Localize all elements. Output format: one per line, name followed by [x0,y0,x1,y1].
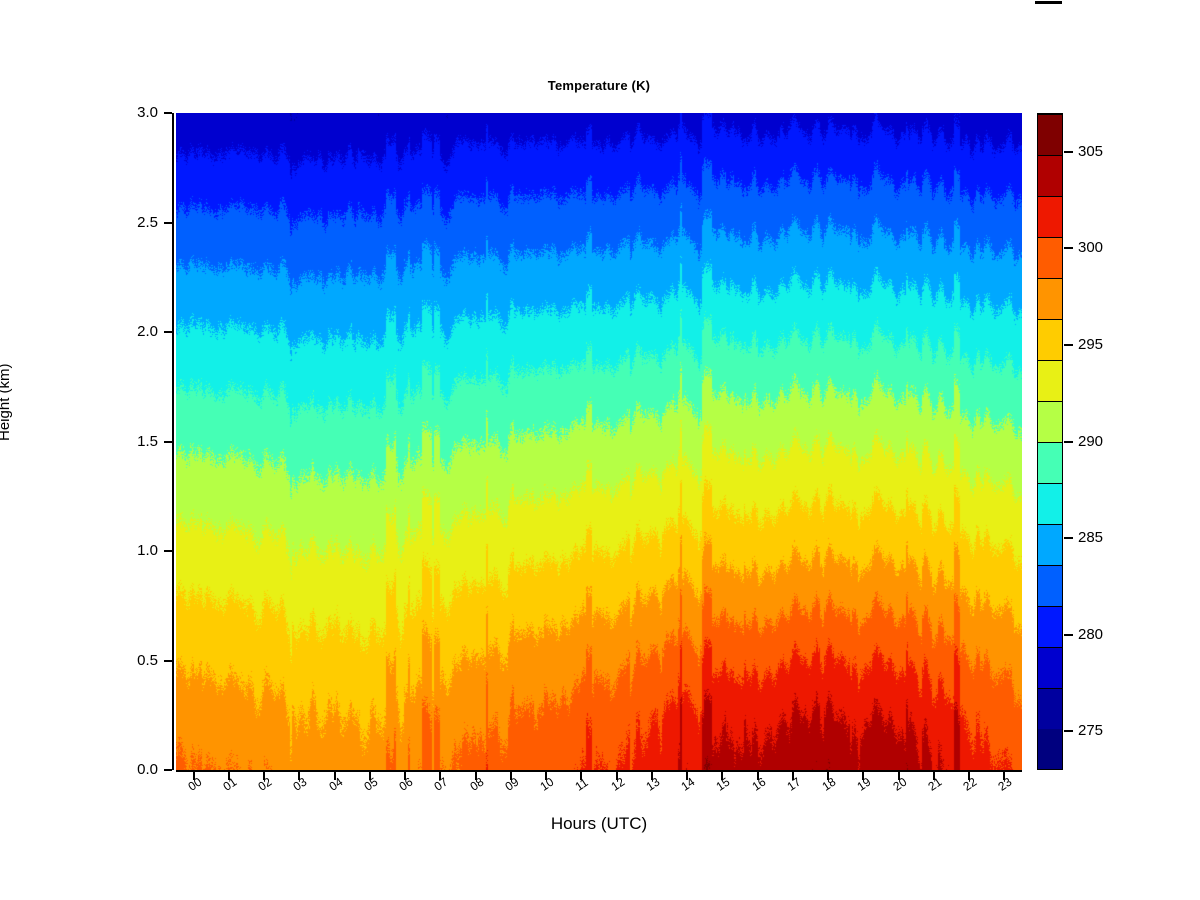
x-tick-label: 10 [538,776,556,793]
y-tick-label: 1.0 [137,543,158,558]
colorbar-tick-mark [1064,344,1073,346]
colorbar-band [1038,442,1062,483]
temperature-heatmap [176,113,1022,770]
x-tick-label: 03 [291,776,309,793]
colorbar-tick-mark [1064,247,1073,249]
x-tick-label: 05 [362,776,380,793]
x-tick-label: 11 [573,776,590,793]
x-axis-line [176,770,1022,772]
y-tick-label: 1.5 [137,434,158,449]
x-tick-label: 08 [468,776,486,793]
y-tick-label: 2.0 [137,324,158,339]
y-tick-mark [164,331,172,333]
y-tick-label: 2.5 [137,215,158,230]
x-tick-label: 00 [186,776,204,793]
y-tick-mark [164,769,172,771]
colorbar-band [1038,155,1062,196]
colorbar-band [1038,401,1062,442]
colorbar-band [1038,606,1062,647]
y-tick-mark [164,660,172,662]
y-tick-mark [164,222,172,224]
colorbar-band [1038,565,1062,606]
colorbar-band [1038,729,1062,769]
colorbar [1037,113,1063,770]
y-tick-mark [164,550,172,552]
colorbar-tick-label: 280 [1078,627,1103,642]
colorbar-band [1038,319,1062,360]
top-edge-artifact [1035,1,1062,4]
x-tick-label: 09 [503,776,521,793]
colorbar-tick-mark [1064,730,1073,732]
x-tick-label: 19 [855,776,873,793]
x-tick-label: 21 [926,776,944,793]
x-tick-label: 04 [327,776,345,793]
y-tick-label: 3.0 [137,105,158,120]
y-tick-mark [164,441,172,443]
x-tick-label: 22 [961,776,979,793]
x-tick-label: 06 [397,776,415,793]
x-axis-title: Hours (UTC) [176,814,1022,834]
x-tick-label: 07 [432,776,450,793]
colorbar-tick-mark [1064,441,1073,443]
colorbar-tick-label: 290 [1078,434,1103,449]
colorbar-tick-label: 305 [1078,144,1103,159]
colorbar-band [1038,688,1062,729]
y-tick-mark [164,112,172,114]
x-tick-label: 01 [221,776,239,793]
colorbar-tick-mark [1064,634,1073,636]
x-tick-label: 18 [820,776,838,793]
colorbar-band [1038,196,1062,237]
x-tick-label: 02 [256,776,274,793]
colorbar-tick-label: 295 [1078,337,1103,352]
y-tick-label: 0.5 [137,653,158,668]
colorbar-band [1038,360,1062,401]
x-tick-label: 13 [644,776,662,793]
colorbar-tick-label: 300 [1078,240,1103,255]
colorbar-tick-label: 285 [1078,530,1103,545]
colorbar-band [1038,483,1062,524]
colorbar-band [1038,237,1062,278]
page-title: Temperature (K) [176,78,1022,93]
x-tick-label: 23 [996,776,1014,793]
figure-canvas: Temperature (K) 0.00.51.01.52.02.53.0 00… [0,0,1200,900]
y-axis-line [172,113,174,770]
x-tick-label: 12 [609,776,627,793]
x-tick-label: 17 [785,776,803,793]
colorbar-band [1038,647,1062,688]
colorbar-band [1038,114,1062,155]
x-tick-label: 16 [750,776,768,793]
y-axis-title: Height (km) [0,363,13,441]
colorbar-tick-mark [1064,151,1073,153]
colorbar-band [1038,524,1062,565]
x-tick-label: 14 [679,776,697,793]
y-tick-label: 0.0 [137,762,158,777]
colorbar-band [1038,278,1062,319]
x-tick-label: 20 [891,776,909,793]
colorbar-tick-label: 275 [1078,723,1103,738]
heatmap-panel [176,113,1022,770]
x-tick-label: 15 [714,776,732,793]
colorbar-tick-mark [1064,537,1073,539]
